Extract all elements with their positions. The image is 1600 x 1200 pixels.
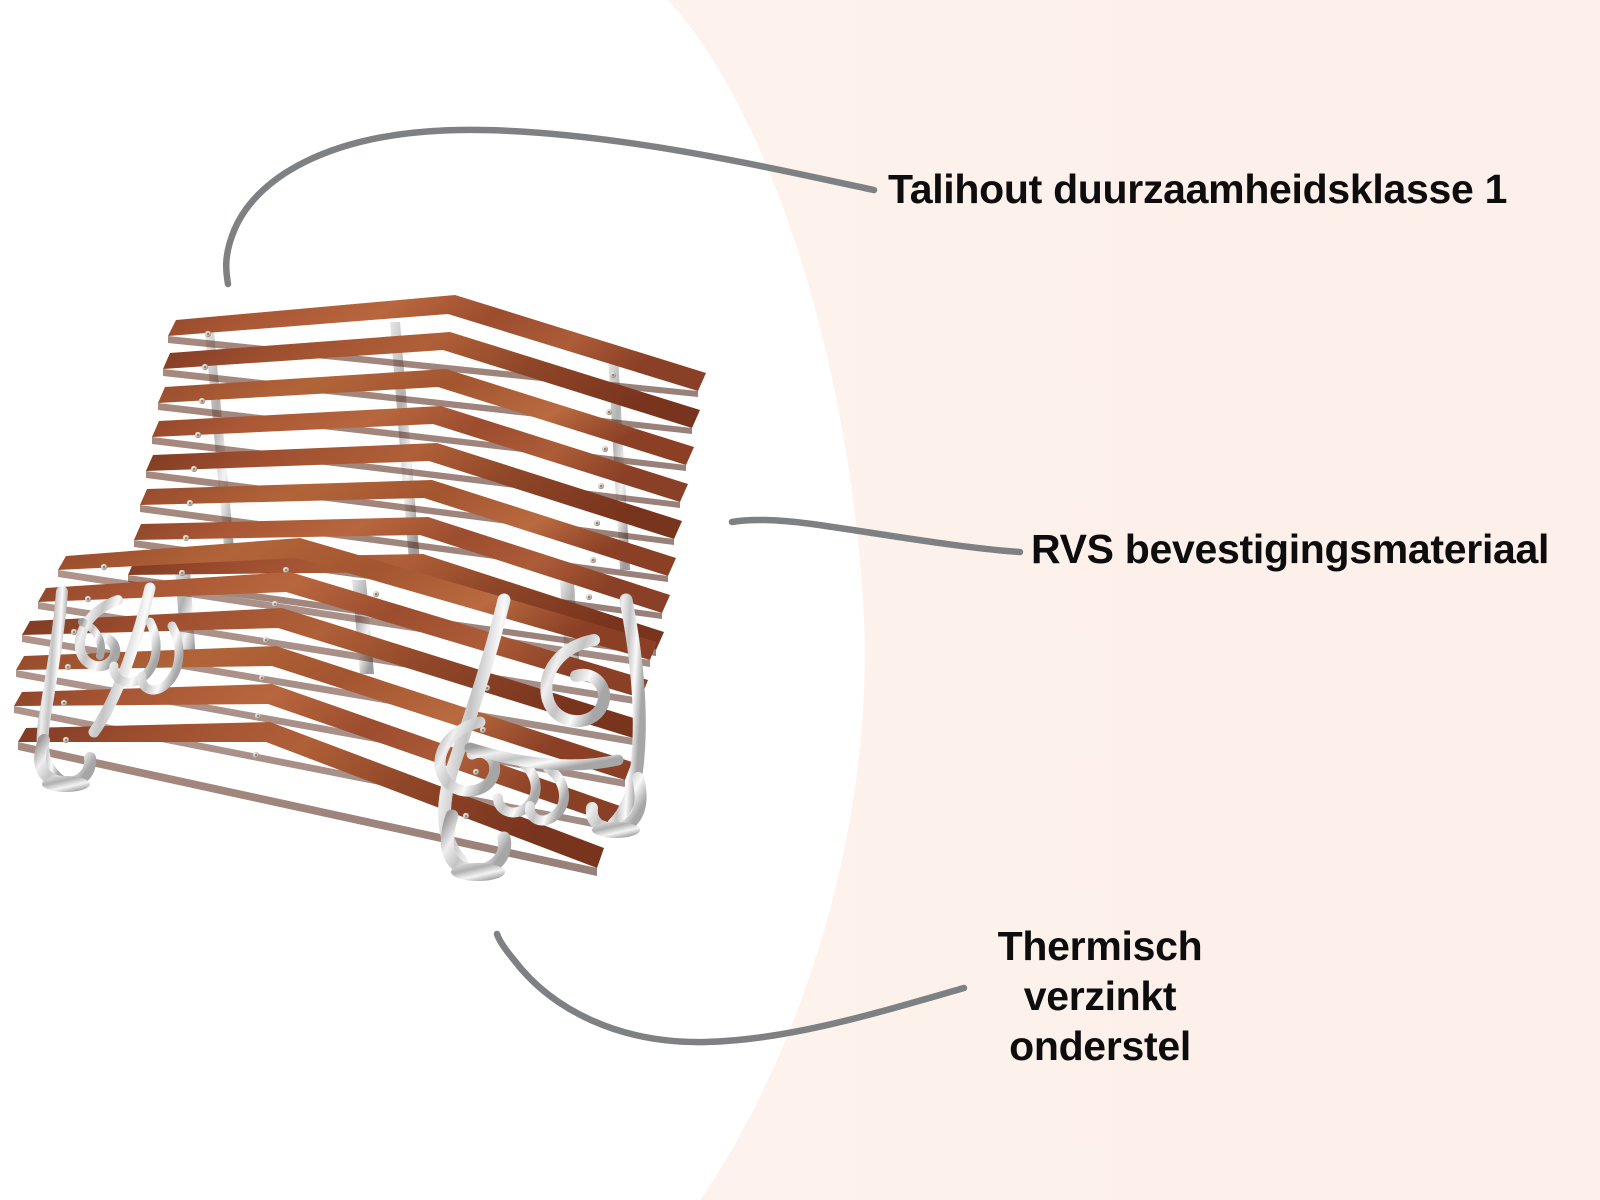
- callout-label-wood-durability: Talihout duurzaamheidsklasse 1: [888, 164, 1507, 214]
- callout-3-line-1: Thermisch verzinkt: [998, 923, 1203, 1019]
- callout-3-line-2: onderstel: [1009, 1023, 1191, 1069]
- callout-label-galvanised-frame: Thermisch verzinktonderstel: [924, 921, 1276, 1071]
- bench-leg-left-foot: [42, 776, 90, 792]
- bench-product-image: [0, 270, 760, 910]
- infographic-canvas: Talihout duurzaamheidsklasse 1 RVS beves…: [0, 0, 1600, 1200]
- callout-label-stainless-fasteners: RVS bevestigingsmateriaal: [1031, 524, 1549, 574]
